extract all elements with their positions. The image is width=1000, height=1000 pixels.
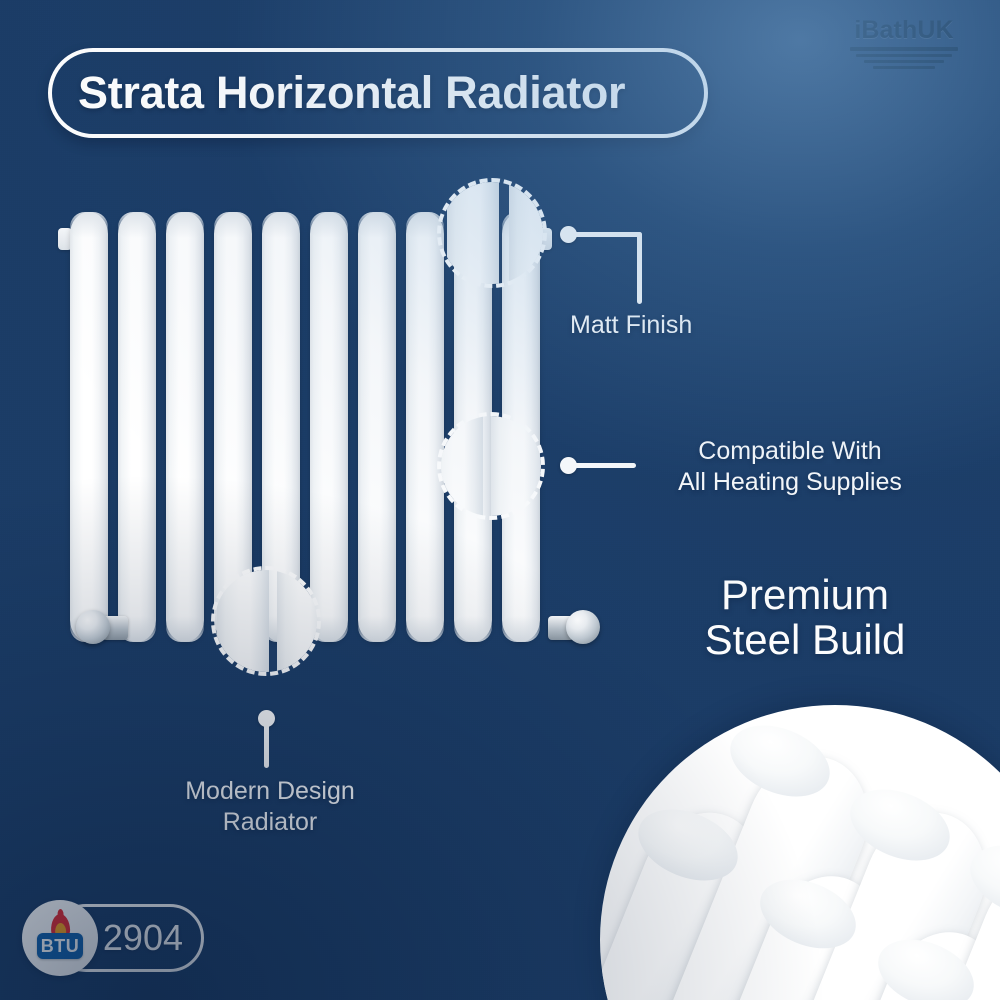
btu-icon-circle: BTU (22, 900, 98, 976)
radiator-column (358, 212, 396, 642)
feature-text-premium-steel-build: Premium Steel Build (640, 572, 970, 663)
radiator-column (70, 212, 108, 642)
underline-bars-icon (834, 47, 974, 69)
callout-label-compatible-supplies: Compatible With All Heating Supplies (640, 436, 940, 497)
btu-badge: 2904 BTU (22, 900, 204, 976)
chrome-valve-icon-right (530, 606, 592, 652)
magnifier-compatible-supplies (437, 412, 545, 520)
radiator-column (166, 212, 204, 642)
brand-logo: iBathUK (834, 18, 974, 69)
callout-label-modern-design: Modern Design Radiator (150, 776, 390, 837)
callout-line-matt-finish-v (637, 232, 642, 304)
radiator-column (406, 212, 444, 642)
btu-value: 2904 (103, 920, 183, 956)
btu-unit-label: BTU (41, 937, 80, 955)
brand-wordmark: iBathUK (834, 18, 974, 43)
magnifier-modern-design (211, 566, 321, 676)
flame-icon: BTU (34, 912, 86, 964)
chrome-valve-icon-left (84, 606, 146, 652)
product-closeup-image (600, 705, 1000, 1000)
callout-label-matt-finish: Matt Finish (570, 310, 692, 341)
callout-line-modern-design (264, 722, 269, 768)
page-title: Strata Horizontal Radiator (78, 67, 625, 119)
page-title-pill: Strata Horizontal Radiator (48, 48, 708, 138)
infographic-canvas: iBathUK Strata Horizontal Radiator (0, 0, 1000, 1000)
callout-line-matt-finish-h (574, 232, 642, 237)
magnifier-matt-finish (437, 178, 547, 288)
radiator-column (118, 212, 156, 642)
callout-line-compatible (574, 463, 636, 468)
btu-unit-plate: BTU (37, 933, 83, 959)
